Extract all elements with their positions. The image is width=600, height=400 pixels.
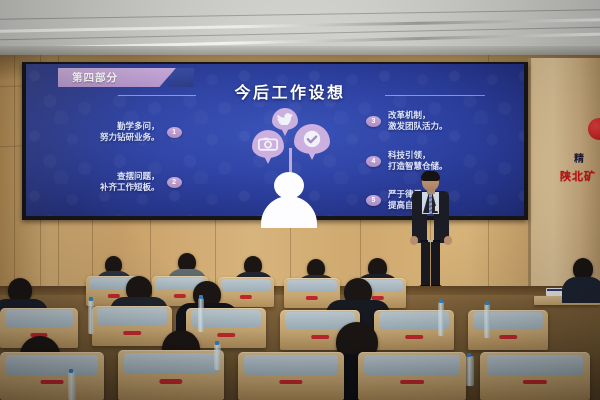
- speaker-hair: [421, 171, 440, 181]
- seat-number-tag: [217, 333, 235, 337]
- water-bottle: [88, 300, 94, 334]
- avatar-head-icon: [274, 172, 304, 199]
- water-bottle: [68, 372, 76, 400]
- seat-number-tag: [240, 295, 252, 299]
- seat-number-tag: [311, 335, 329, 339]
- ceiling-light-strip: [0, 18, 600, 33]
- slide-bullet-1-text: 勤学多问， 努力钻研业务。: [100, 121, 160, 143]
- slide-bullet-4-text: 科技引领， 打造智慧仓储。: [388, 150, 448, 172]
- chair-seat-pad: [124, 353, 217, 374]
- seat-number-tag: [279, 380, 302, 384]
- slide-section-tag-label: 第四部分: [72, 70, 118, 85]
- bubble-check: [294, 124, 330, 154]
- seat-number-tag: [523, 380, 547, 384]
- seat-number-tag: [174, 294, 186, 298]
- water-bottle: [438, 302, 444, 336]
- slide-section-tag: 第四部分: [58, 68, 176, 87]
- bottle-cap: [215, 341, 219, 345]
- chair-seat-pad: [244, 355, 337, 375]
- bottle-cap: [485, 301, 489, 305]
- chair-seat-pad: [5, 310, 74, 327]
- camera-icon: [258, 137, 278, 151]
- seat-number-tag: [41, 380, 64, 384]
- seat-number-tag: [123, 331, 141, 335]
- avatar-body-icon: [261, 196, 317, 228]
- chair-seat-pad: [6, 355, 98, 375]
- bottle-cap: [69, 369, 73, 373]
- slide-center-graphic: [252, 108, 332, 212]
- chair: [468, 310, 548, 350]
- speaker-badge: [435, 206, 439, 211]
- chair: [238, 352, 344, 400]
- speaker-person: [404, 172, 456, 294]
- wall-corner: [528, 58, 531, 303]
- speaker-hand-right: [444, 236, 452, 245]
- slide-bullet-3-number: 3: [366, 116, 381, 127]
- slide-title: 今后工作设想: [200, 79, 380, 103]
- seat-number-tag: [400, 380, 424, 384]
- check-icon: [303, 130, 321, 148]
- seat-number-tag: [306, 296, 318, 300]
- chair-seat-pad: [364, 355, 459, 375]
- screenshot-root: 精 陕北矿 第四部分 今后工作设想 勤学多问， 努力钻研业务。 1 查摆问题， …: [0, 0, 600, 400]
- slide-bullet-5-number: 5: [366, 195, 381, 206]
- water-bottle: [214, 344, 221, 370]
- chair-seat-pad: [487, 355, 584, 375]
- banner-red-text: 陕北矿: [560, 168, 600, 181]
- slide-bullet-2-number: 2: [167, 177, 182, 188]
- bubble-camera: [252, 130, 284, 158]
- bottle-cap: [467, 353, 471, 357]
- slide-bullet-3-text: 改革机制， 激发团队活力。: [388, 110, 448, 132]
- seat-number-tag: [499, 335, 517, 339]
- chair-seat-pad: [97, 308, 167, 325]
- chair: [358, 352, 466, 400]
- slide-bullet-1-number: 1: [167, 127, 182, 138]
- seat-number-tag: [405, 335, 423, 339]
- bottle-cap: [439, 299, 443, 303]
- slide-bullet-1: 勤学多问， 努力钻研业务。 1: [100, 121, 182, 143]
- attendee-shoulders: [562, 277, 600, 303]
- bubble-bird: [272, 108, 298, 130]
- slide-bullet-4-number: 4: [366, 156, 381, 167]
- banner-dark-text: 精: [574, 150, 600, 165]
- slide-bullet-2-text: 查摆问题， 补齐工作短板。: [100, 171, 160, 193]
- speaker-hand-left: [410, 236, 418, 245]
- bird-icon: [277, 113, 293, 125]
- chair: [118, 350, 224, 400]
- chair: [480, 352, 590, 400]
- chair: [92, 306, 172, 346]
- slide-bullet-3: 3 改革机制， 激发团队活力。: [366, 110, 448, 132]
- title-rule-left: [118, 95, 196, 96]
- water-bottle: [466, 356, 474, 386]
- slide-bullet-4: 4 科技引领， 打造智慧仓储。: [366, 150, 448, 172]
- speaker-leg-left: [421, 242, 430, 287]
- seat-number-tag: [159, 379, 182, 384]
- chair-seat-pad: [221, 279, 270, 292]
- bottle-cap: [199, 295, 203, 299]
- chair: [0, 352, 104, 400]
- bottle-cap: [89, 297, 93, 301]
- water-bottle: [198, 298, 204, 332]
- chair-seat-pad: [287, 280, 336, 293]
- speaker-leg-right: [431, 242, 440, 287]
- title-rule-right: [385, 95, 485, 96]
- slide-bullet-2: 查摆问题， 补齐工作短板。 2: [100, 171, 182, 193]
- water-bottle: [484, 304, 490, 338]
